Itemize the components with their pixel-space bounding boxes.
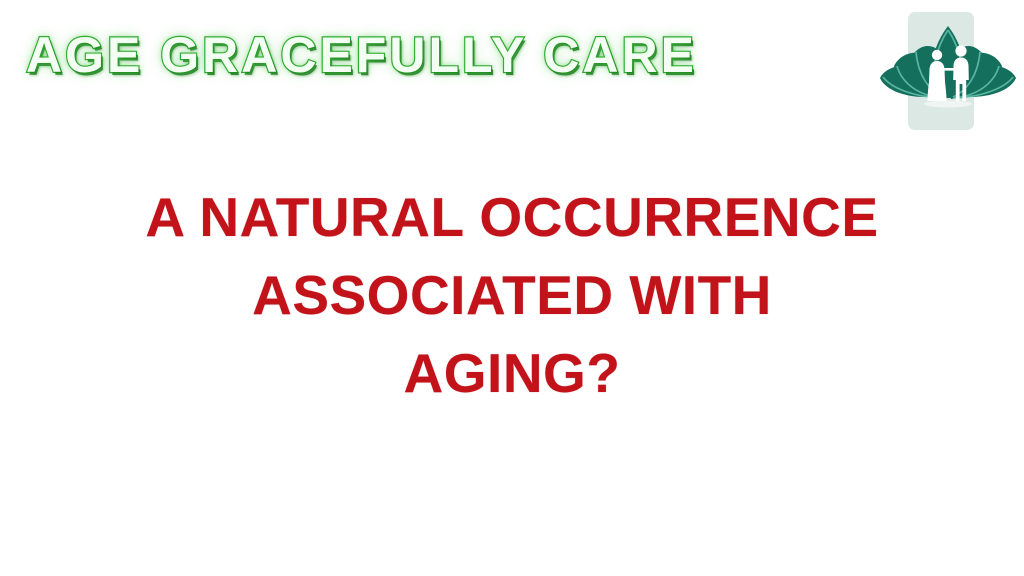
headline-line-1: A NATURAL OCCURRENCE [0,178,1024,256]
headline-block: A NATURAL OCCURRENCE ASSOCIATED WITH AGI… [0,178,1024,412]
lotus-couple-logo [872,0,1024,140]
brand-wordmark: AGE GRACEFULLY CARE [26,24,697,86]
slide-canvas: AGE GRACEFULLY CARE [0,0,1024,576]
headline-line-2: ASSOCIATED WITH [0,256,1024,334]
headline-line-3: AGING? [0,334,1024,412]
couple-ground-shadow [924,101,972,108]
lotus-couple-logo-svg [872,0,1024,140]
